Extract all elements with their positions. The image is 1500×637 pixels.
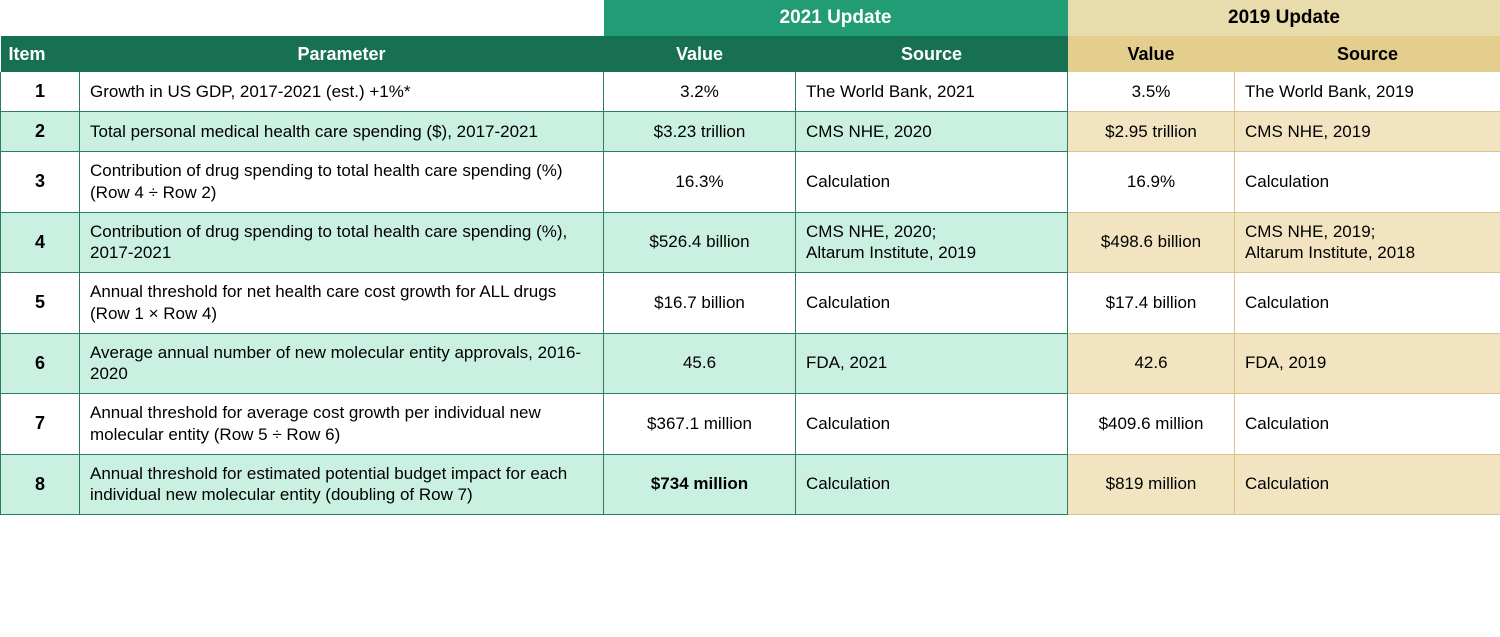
cell-item-number: 3 bbox=[1, 152, 80, 213]
column-header-value-2019: Value bbox=[1068, 36, 1235, 72]
cell-value-2021: 45.6 bbox=[604, 333, 796, 394]
cell-source-2019: FDA, 2019 bbox=[1235, 333, 1500, 394]
cell-parameter: Annual threshold for average cost growth… bbox=[80, 394, 604, 455]
column-header-source-2021: Source bbox=[796, 36, 1068, 72]
cell-item-number: 8 bbox=[1, 454, 80, 515]
cell-value-2021: $367.1 million bbox=[604, 394, 796, 455]
cell-value-2019: $819 million bbox=[1068, 454, 1235, 515]
column-header-value-2021: Value bbox=[604, 36, 796, 72]
source-line: FDA, 2019 bbox=[1245, 352, 1491, 374]
table-row: 1Growth in US GDP, 2017-2021 (est.) +1%*… bbox=[1, 72, 1500, 112]
cell-source-2021: Calculation bbox=[796, 273, 1068, 334]
source-line: The World Bank, 2019 bbox=[1245, 81, 1491, 103]
cell-source-2021: CMS NHE, 2020 bbox=[796, 112, 1068, 152]
cell-item-number: 4 bbox=[1, 212, 80, 273]
cell-value-2021: 16.3% bbox=[604, 152, 796, 213]
cell-parameter: Annual threshold for estimated potential… bbox=[80, 454, 604, 515]
cell-source-2019: Calculation bbox=[1235, 394, 1500, 455]
table-row: 7Annual threshold for average cost growt… bbox=[1, 394, 1500, 455]
table-row: 8Annual threshold for estimated potentia… bbox=[1, 454, 1500, 515]
table-row: 5Annual threshold for net health care co… bbox=[1, 273, 1500, 334]
cell-parameter: Growth in US GDP, 2017-2021 (est.) +1%* bbox=[80, 72, 604, 112]
source-line: FDA, 2021 bbox=[806, 352, 1057, 374]
source-line: CMS NHE, 2020 bbox=[806, 121, 1057, 143]
cell-parameter: Contribution of drug spending to total h… bbox=[80, 152, 604, 213]
table-header: 2021 Update 2019 Update Item Parameter V… bbox=[1, 0, 1500, 72]
cell-item-number: 7 bbox=[1, 394, 80, 455]
column-header-source-2019: Source bbox=[1235, 36, 1500, 72]
group-header-blank bbox=[1, 0, 604, 36]
cell-value-2021: $16.7 billion bbox=[604, 273, 796, 334]
cell-parameter: Total personal medical health care spend… bbox=[80, 112, 604, 152]
cell-source-2019: CMS NHE, 2019;Altarum Institute, 2018 bbox=[1235, 212, 1500, 273]
table-row: 2Total personal medical health care spen… bbox=[1, 112, 1500, 152]
cell-value-2019: $17.4 billion bbox=[1068, 273, 1235, 334]
cell-source-2021: Calculation bbox=[796, 394, 1068, 455]
cell-value-2021: $734 million bbox=[604, 454, 796, 515]
cell-value-2019: $498.6 billion bbox=[1068, 212, 1235, 273]
table-row: 3Contribution of drug spending to total … bbox=[1, 152, 1500, 213]
cell-parameter: Contribution of drug spending to total h… bbox=[80, 212, 604, 273]
cell-source-2019: Calculation bbox=[1235, 273, 1500, 334]
cell-value-2021: $526.4 billion bbox=[604, 212, 796, 273]
column-header-row: Item Parameter Value Source Value Source bbox=[1, 36, 1500, 72]
cell-source-2021: FDA, 2021 bbox=[796, 333, 1068, 394]
table-body: 1Growth in US GDP, 2017-2021 (est.) +1%*… bbox=[1, 72, 1500, 515]
source-line: CMS NHE, 2019; bbox=[1245, 221, 1491, 243]
source-line: Calculation bbox=[806, 292, 1057, 314]
source-line: Calculation bbox=[806, 473, 1057, 495]
source-line: Altarum Institute, 2018 bbox=[1245, 242, 1491, 264]
cell-item-number: 1 bbox=[1, 72, 80, 112]
source-line: Altarum Institute, 2019 bbox=[806, 242, 1057, 264]
column-header-parameter: Parameter bbox=[80, 36, 604, 72]
cell-value-2019: 16.9% bbox=[1068, 152, 1235, 213]
group-header-2019-update: 2019 Update bbox=[1068, 0, 1500, 36]
cell-source-2021: Calculation bbox=[796, 152, 1068, 213]
cell-value-2019: $2.95 trillion bbox=[1068, 112, 1235, 152]
cell-source-2021: Calculation bbox=[796, 454, 1068, 515]
source-line: Calculation bbox=[1245, 292, 1491, 314]
source-line: CMS NHE, 2020; bbox=[806, 221, 1057, 243]
group-header-row: 2021 Update 2019 Update bbox=[1, 0, 1500, 36]
cell-source-2021: CMS NHE, 2020;Altarum Institute, 2019 bbox=[796, 212, 1068, 273]
cell-source-2019: CMS NHE, 2019 bbox=[1235, 112, 1500, 152]
cell-source-2019: Calculation bbox=[1235, 454, 1500, 515]
comparison-table: 2021 Update 2019 Update Item Parameter V… bbox=[0, 0, 1500, 515]
table-container: 2021 Update 2019 Update Item Parameter V… bbox=[0, 0, 1500, 637]
cell-parameter: Average annual number of new molecular e… bbox=[80, 333, 604, 394]
cell-value-2021: 3.2% bbox=[604, 72, 796, 112]
table-row: 6Average annual number of new molecular … bbox=[1, 333, 1500, 394]
cell-item-number: 2 bbox=[1, 112, 80, 152]
cell-value-2019: 3.5% bbox=[1068, 72, 1235, 112]
source-line: Calculation bbox=[1245, 171, 1491, 193]
table-row: 4Contribution of drug spending to total … bbox=[1, 212, 1500, 273]
group-header-2021-update: 2021 Update bbox=[604, 0, 1068, 36]
cell-value-2021: $3.23 trillion bbox=[604, 112, 796, 152]
cell-parameter: Annual threshold for net health care cos… bbox=[80, 273, 604, 334]
cell-item-number: 5 bbox=[1, 273, 80, 334]
cell-value-2019: $409.6 million bbox=[1068, 394, 1235, 455]
source-line: Calculation bbox=[1245, 413, 1491, 435]
cell-source-2019: The World Bank, 2019 bbox=[1235, 72, 1500, 112]
cell-value-2019: 42.6 bbox=[1068, 333, 1235, 394]
source-line: Calculation bbox=[806, 413, 1057, 435]
cell-source-2021: The World Bank, 2021 bbox=[796, 72, 1068, 112]
column-header-item: Item bbox=[1, 36, 80, 72]
source-line: Calculation bbox=[1245, 473, 1491, 495]
source-line: The World Bank, 2021 bbox=[806, 81, 1057, 103]
cell-item-number: 6 bbox=[1, 333, 80, 394]
source-line: Calculation bbox=[806, 171, 1057, 193]
source-line: CMS NHE, 2019 bbox=[1245, 121, 1491, 143]
cell-source-2019: Calculation bbox=[1235, 152, 1500, 213]
